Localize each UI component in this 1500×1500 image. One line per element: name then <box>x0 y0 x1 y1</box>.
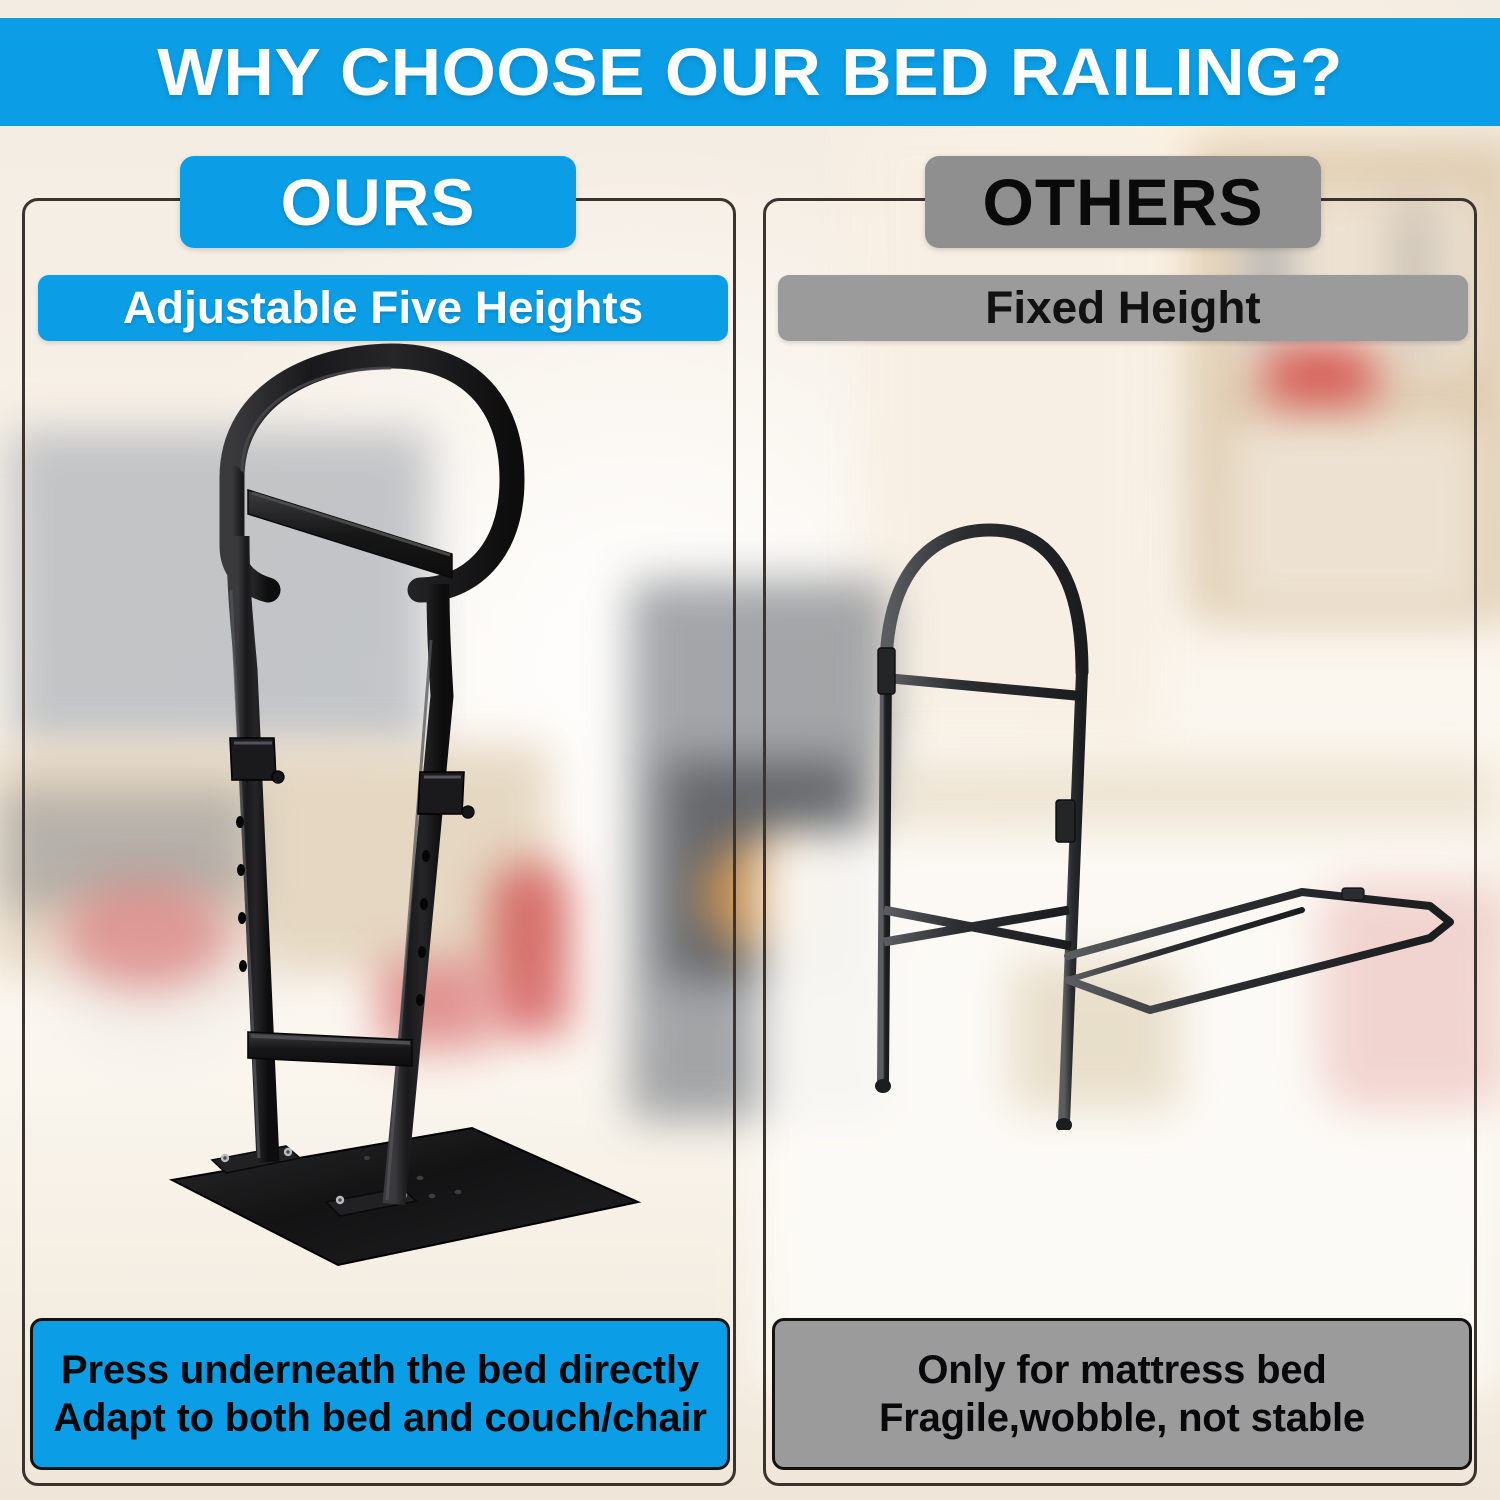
caption-ours-line-1: Press underneath the bed directly <box>61 1346 699 1394</box>
caption-ours: Press underneath the bed directly Adapt … <box>30 1318 730 1470</box>
caption-ours-line-2: Adapt to both bed and couch/chair <box>53 1394 706 1442</box>
frame-clip <box>1342 888 1364 900</box>
tab-others-label: OTHERS <box>982 164 1263 240</box>
product-image-others <box>850 510 1490 1130</box>
feature-banner-others: Fixed Height <box>778 275 1468 341</box>
foot-caps <box>875 1079 1072 1130</box>
caption-others-line-1: Only for mattress bed <box>917 1346 1326 1394</box>
arch-top <box>886 530 1082 672</box>
under-mattress-frame <box>1068 892 1450 1010</box>
handle-crossbar <box>248 490 452 578</box>
feature-banner-ours: Adjustable Five Heights <box>38 275 728 341</box>
infographic-page: WHY CHOOSE OUR BED RAILING? OURS OTHERS … <box>0 0 1500 1500</box>
tab-others[interactable]: OTHERS <box>925 156 1321 248</box>
product-image-ours <box>120 340 660 1270</box>
tab-ours[interactable]: OURS <box>180 156 576 248</box>
caption-others-line-2: Fragile,wobble, not stable <box>879 1394 1365 1442</box>
caption-others: Only for mattress bed Fragile,wobble, no… <box>772 1318 1472 1470</box>
feature-label-ours: Adjustable Five Heights <box>123 282 643 334</box>
upper-crossbar <box>886 678 1081 696</box>
page-title: WHY CHOOSE OUR BED RAILING? <box>157 34 1343 111</box>
x-brace <box>884 910 1071 946</box>
legs <box>238 536 442 1204</box>
tab-ours-label: OURS <box>281 164 476 240</box>
uprights <box>883 670 1082 1122</box>
feature-label-others: Fixed Height <box>985 282 1260 334</box>
handle-loop <box>232 356 512 590</box>
header-banner: WHY CHOOSE OUR BED RAILING? <box>0 18 1500 126</box>
